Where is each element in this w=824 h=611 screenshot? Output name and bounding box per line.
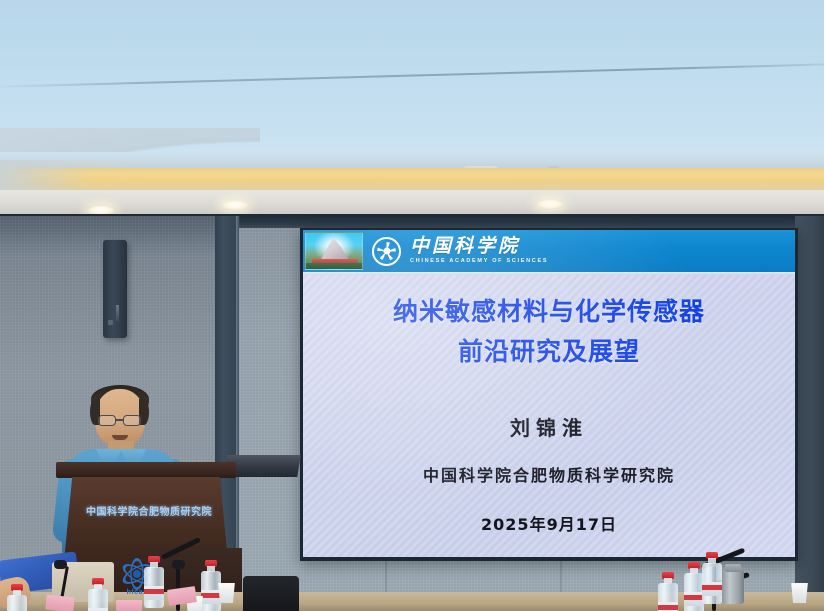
slide-header-banner: 中国科学院 CHINESE ACADEMY OF SCIENCES xyxy=(303,230,795,272)
projection-screen[interactable]: 中国科学院 CHINESE ACADEMY OF SCIENCES 纳米敏感材料… xyxy=(303,230,795,557)
banner-underline xyxy=(303,272,795,275)
podium-inscription: 中国科学院合肥物质研究院 xyxy=(84,503,214,518)
water-bottle xyxy=(144,556,164,608)
paper-cup xyxy=(217,583,236,603)
podium-top-surface xyxy=(56,462,236,478)
slide-title-line-1: 纳米敏感材料与化学传感器 xyxy=(303,292,795,332)
glasses-left-lens-icon xyxy=(98,415,116,426)
water-bottle xyxy=(702,552,722,604)
slide-title: 纳米敏感材料与化学传感器 前沿研究及展望 xyxy=(303,292,795,372)
water-bottle xyxy=(88,578,108,611)
mountain-landscape-thumbnail-icon xyxy=(305,232,363,270)
water-bottle xyxy=(7,584,27,611)
presentation-slide: 中国科学院 CHINESE ACADEMY OF SCIENCES 纳米敏感材料… xyxy=(303,230,795,557)
slide-speaker-name: 刘锦淮 xyxy=(303,412,795,441)
microphone-head-icon xyxy=(172,560,185,569)
chair-back xyxy=(243,576,299,611)
wall-speaker-icon xyxy=(103,240,127,338)
microphone-head-icon xyxy=(54,560,67,569)
speaker-branding-mark xyxy=(116,305,119,321)
slide-date: 2025年9月17日 xyxy=(303,511,795,535)
downlight-icon xyxy=(222,201,248,210)
slide-affiliation: 中国科学院合肥物质科学研究院 xyxy=(303,462,795,486)
water-bottle xyxy=(658,572,678,611)
pink-note-paper xyxy=(45,595,74,611)
downlight-icon xyxy=(537,200,563,209)
water-bottle xyxy=(684,562,704,611)
thermos-flask xyxy=(722,570,744,604)
conference-photo-scene: 中国科学院 CHINESE ACADEMY OF SCIENCES 纳米敏感材料… xyxy=(0,0,824,611)
pink-note-paper xyxy=(116,600,142,611)
slide-title-line-2: 前沿研究及展望 xyxy=(303,332,795,372)
glasses-right-lens-icon xyxy=(123,415,141,426)
cas-wordmark: 中国科学院 CHINESE ACADEMY OF SCIENCES xyxy=(410,237,548,265)
cas-atom-emblem-icon xyxy=(372,237,401,266)
ceiling-soffit xyxy=(0,190,824,216)
glasses-bridge xyxy=(116,419,123,421)
water-bottle xyxy=(201,560,221,611)
cas-name-cn: 中国科学院 xyxy=(410,237,548,256)
screen-glare xyxy=(303,230,795,557)
right-wall-slab xyxy=(795,216,824,611)
paper-cup xyxy=(790,583,809,603)
speaker-led-icon xyxy=(108,320,113,325)
cas-name-en: CHINESE ACADEMY OF SCIENCES xyxy=(410,259,548,265)
presenter-mouth xyxy=(112,435,128,440)
